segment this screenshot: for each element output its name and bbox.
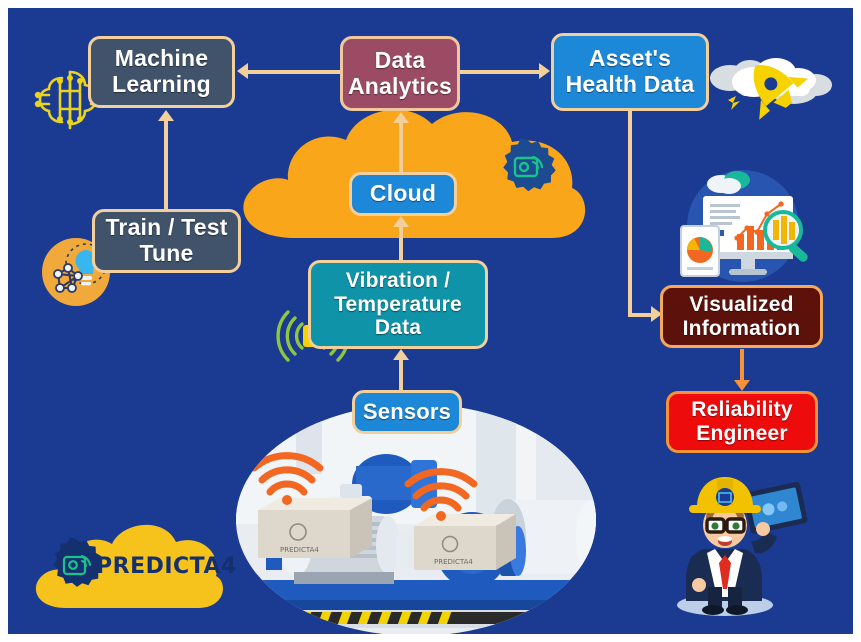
node-visualized-information[interactable]: Visualized Information bbox=[660, 285, 823, 348]
node-reliability-line1: Reliability bbox=[687, 398, 796, 422]
dashboard-analytics-icon bbox=[663, 168, 828, 293]
connector-vibration-to-cloud bbox=[399, 226, 403, 262]
arrowhead-to-vibration bbox=[393, 349, 409, 360]
node-assets-health-line2: Health Data bbox=[562, 72, 699, 98]
node-data-analytics-line2: Analytics bbox=[344, 74, 456, 100]
arrowhead-to-machine-learning bbox=[237, 63, 248, 79]
node-train-test-line1: Train / Test bbox=[101, 215, 231, 241]
node-reliability-line2: Engineer bbox=[687, 422, 796, 446]
node-visualized-line1: Visualized bbox=[679, 293, 805, 317]
svg-text:PREDICTA4: PREDICTA4 bbox=[280, 546, 319, 554]
node-cloud-label: Cloud bbox=[366, 181, 440, 207]
node-reliability-engineer[interactable]: Reliability Engineer bbox=[666, 391, 818, 453]
svg-text:PREDICTA4: PREDICTA4 bbox=[434, 558, 473, 566]
node-vibration-temperature-data[interactable]: Vibration / Temperature Data bbox=[308, 260, 488, 349]
connector-analytics-to-ml bbox=[248, 70, 340, 74]
node-cloud[interactable]: Cloud bbox=[349, 172, 457, 216]
diagram-canvas: Machine Learning Data Analytics Asset's … bbox=[0, 0, 861, 642]
node-data-analytics[interactable]: Data Analytics bbox=[340, 36, 460, 111]
node-train-test-line2: Tune bbox=[101, 241, 231, 267]
node-sensors-label: Sensors bbox=[359, 400, 455, 425]
node-vibration-line3: Data bbox=[330, 316, 466, 340]
connector-sensors-to-vibration bbox=[399, 360, 403, 392]
node-data-analytics-line1: Data bbox=[344, 48, 456, 74]
connector-asset-health-down bbox=[628, 111, 632, 315]
node-machine-learning-line1: Machine bbox=[108, 46, 215, 72]
node-assets-health-line1: Asset's bbox=[562, 46, 699, 72]
arrowhead-to-cloud bbox=[393, 216, 409, 227]
engineer-character-icon bbox=[663, 463, 823, 623]
connector-analytics-to-asset-health bbox=[460, 70, 540, 74]
gear-sensor-icon bbox=[495, 136, 557, 198]
arrowhead-to-reliability-engineer bbox=[734, 380, 750, 391]
connector-visualized-to-engineer bbox=[740, 349, 744, 381]
node-machine-learning[interactable]: Machine Learning bbox=[88, 36, 235, 108]
node-machine-learning-line2: Learning bbox=[108, 72, 215, 98]
connector-cloud-to-analytics bbox=[399, 123, 403, 173]
node-vibration-line1: Vibration / bbox=[330, 269, 466, 293]
node-assets-health-data[interactable]: Asset's Health Data bbox=[551, 33, 709, 111]
node-vibration-line2: Temperature bbox=[330, 293, 466, 317]
connector-train-to-ml bbox=[164, 121, 168, 210]
arrowhead-to-data-analytics bbox=[393, 112, 409, 123]
node-sensors[interactable]: Sensors bbox=[352, 390, 462, 434]
arrowhead-to-machine-learning-up bbox=[158, 110, 174, 121]
node-visualized-line2: Information bbox=[679, 317, 805, 341]
node-train-test-tune[interactable]: Train / Test Tune bbox=[92, 209, 241, 273]
diagram-stage: Machine Learning Data Analytics Asset's … bbox=[8, 8, 853, 634]
industrial-pump-photo: PREDICTA4 PREDICTA4 bbox=[236, 404, 596, 634]
predicta4-logo-text: PREDICTA4 bbox=[96, 554, 237, 579]
arrowhead-to-asset-health bbox=[539, 63, 550, 79]
rocket-cloud-icon bbox=[698, 38, 848, 138]
